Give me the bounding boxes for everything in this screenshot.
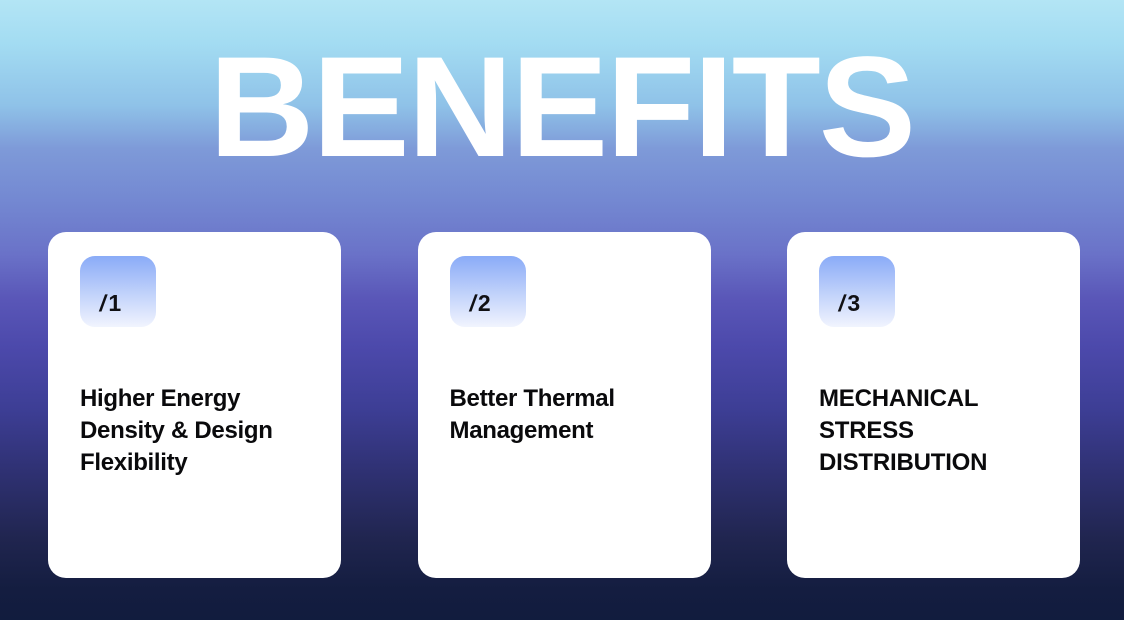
slash-icon: / [467,292,477,315]
slash-icon: / [98,292,108,315]
benefit-card-title: Better Thermal Management [450,383,679,447]
benefit-number-badge: /2 [450,256,526,327]
headline-container: BENEFITS [0,0,1124,215]
slash-icon: / [837,292,847,315]
benefit-number-value: 1 [108,290,121,316]
benefit-number-label: /2 [470,292,491,315]
benefit-card[interactable]: /1 Higher Energy Density & Design Flexib… [48,232,341,578]
benefits-slide: BENEFITS /1 Higher Energy Density & Desi… [0,0,1124,620]
benefit-number-value: 2 [478,290,491,316]
benefit-number-badge: /3 [819,256,895,327]
benefit-card[interactable]: /2 Better Thermal Management [418,232,711,578]
benefit-cards-row: /1 Higher Energy Density & Design Flexib… [48,232,1080,578]
benefit-number-label: /1 [100,292,121,315]
page-title: BENEFITS [210,36,915,179]
benefit-card[interactable]: /3 MECHANICAL STRESS DISTRIBUTION [787,232,1080,578]
benefit-card-title: MECHANICAL STRESS DISTRIBUTION [819,383,1048,479]
benefit-number-label: /3 [839,292,860,315]
benefit-number-badge: /1 [80,256,156,327]
benefit-card-title: Higher Energy Density & Design Flexibili… [80,383,309,479]
benefit-number-value: 3 [847,290,860,316]
